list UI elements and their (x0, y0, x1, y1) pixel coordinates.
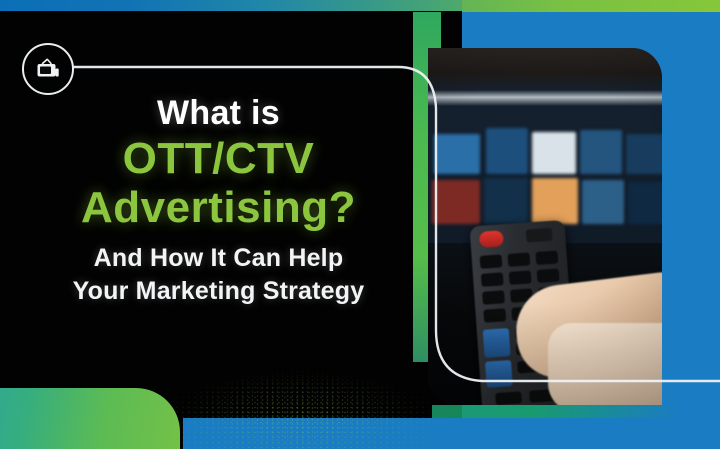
remote-button (483, 308, 506, 323)
remote-button (495, 391, 522, 405)
remote-button (526, 228, 553, 243)
headline-line-1: What is (46, 96, 391, 132)
ott-ctv-advertising-banner: What is OTT/CTV Advertising? And How It … (0, 0, 720, 449)
tv-tile (434, 134, 480, 174)
headline-line-3: Advertising? (46, 183, 391, 232)
tv-tile (580, 130, 622, 174)
top-green-bar (462, 0, 720, 12)
background-blue-bottom-bar (183, 418, 720, 449)
tv-tile (532, 132, 576, 174)
remote-button (480, 254, 503, 269)
tv-tile (582, 180, 624, 224)
subheadline-line-1: And How It Can Help (46, 242, 391, 275)
background-green-accent (432, 405, 680, 418)
headline-block: What is OTT/CTV Advertising? And How It … (46, 96, 391, 308)
remote-button (509, 270, 532, 285)
remote-power-button (479, 230, 504, 248)
tv-tile (484, 178, 528, 224)
tv-tile (626, 134, 662, 174)
remote-channel-button (485, 360, 513, 388)
headline-line-2: OTT/CTV (46, 134, 391, 183)
tv-wall-light-bar (428, 90, 662, 106)
tv-icon (35, 58, 61, 80)
remote-button (482, 290, 505, 305)
remote-button (537, 268, 560, 283)
remote-photo-panel (428, 48, 662, 405)
tv-tile (532, 178, 578, 224)
tv-tile (628, 182, 662, 224)
remote-button (481, 272, 504, 287)
subheadline-line-2: Your Marketing Strategy (46, 275, 391, 308)
tv-tile (486, 128, 528, 174)
background-corner-shape (0, 388, 180, 449)
tv-icon-badge (22, 43, 74, 95)
tv-tile (432, 180, 480, 224)
remote-volume-button (483, 328, 511, 358)
remote-button (507, 252, 530, 267)
hand-palm (548, 323, 662, 405)
remote-button (535, 250, 558, 265)
